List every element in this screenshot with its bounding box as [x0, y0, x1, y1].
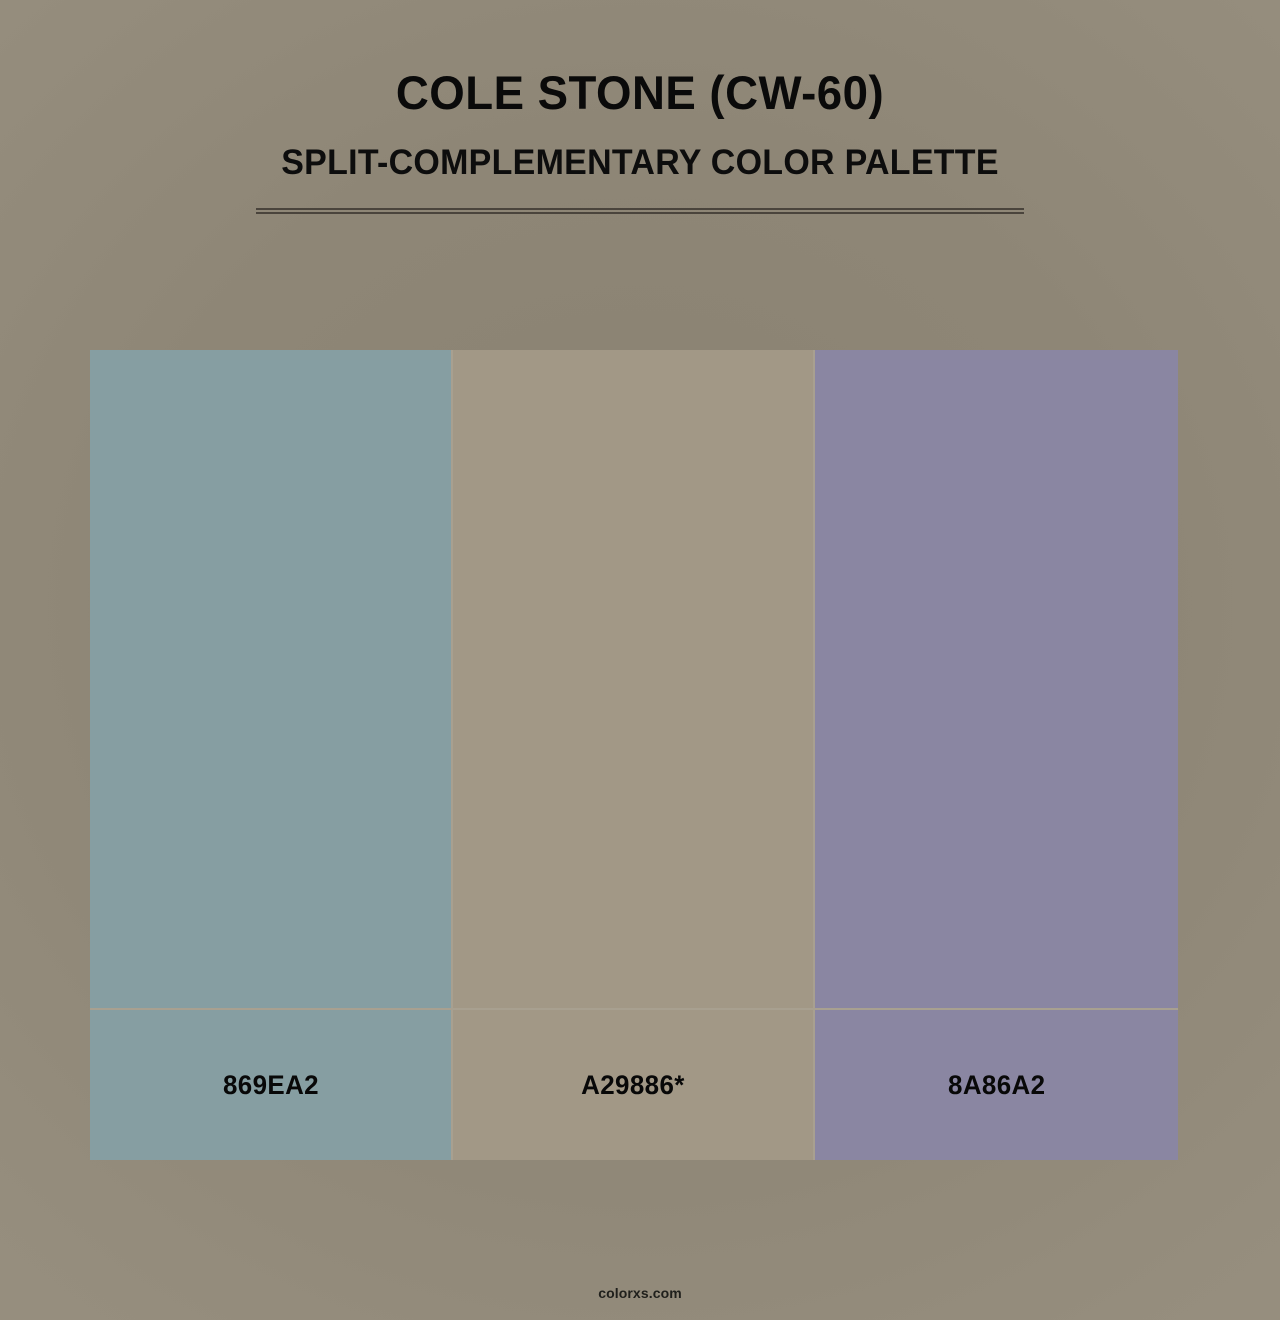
color-swatch-label-cell[interactable]: 869EA2	[90, 1010, 451, 1160]
page-subtitle: SPLIT-COMPLEMENTARY COLOR PALETTE	[19, 145, 1261, 182]
color-swatch-board: 869EA2 A29886* 8A86A2	[90, 350, 1178, 1160]
color-swatch-label-cell[interactable]: A29886*	[453, 1010, 812, 1160]
page-header: COLE STONE (CW-60) SPLIT-COMPLEMENTARY C…	[0, 0, 1280, 214]
swatch-color-row	[90, 350, 1178, 1008]
divider-line-bottom	[256, 212, 1024, 214]
color-swatch-block[interactable]	[453, 350, 812, 1008]
hex-code-label: 8A86A2	[948, 1070, 1045, 1101]
source-attribution: colorxs.com	[598, 1285, 682, 1301]
hex-code-label: 869EA2	[223, 1070, 319, 1101]
color-swatch-label-cell[interactable]: 8A86A2	[815, 1010, 1178, 1160]
page-title: COLE STONE (CW-60)	[19, 68, 1261, 119]
color-palette-page: { "header": { "title": "COLE STONE (CW-6…	[0, 0, 1280, 1320]
swatch-label-row: 869EA2 A29886* 8A86A2	[90, 1010, 1178, 1160]
hex-code-label: A29886*	[581, 1070, 685, 1101]
page-footer: colorxs.com	[0, 1285, 1280, 1303]
color-swatch-block[interactable]	[815, 350, 1178, 1008]
divider-line-top	[256, 208, 1024, 210]
header-divider	[256, 208, 1024, 214]
color-swatch-block[interactable]	[90, 350, 451, 1008]
